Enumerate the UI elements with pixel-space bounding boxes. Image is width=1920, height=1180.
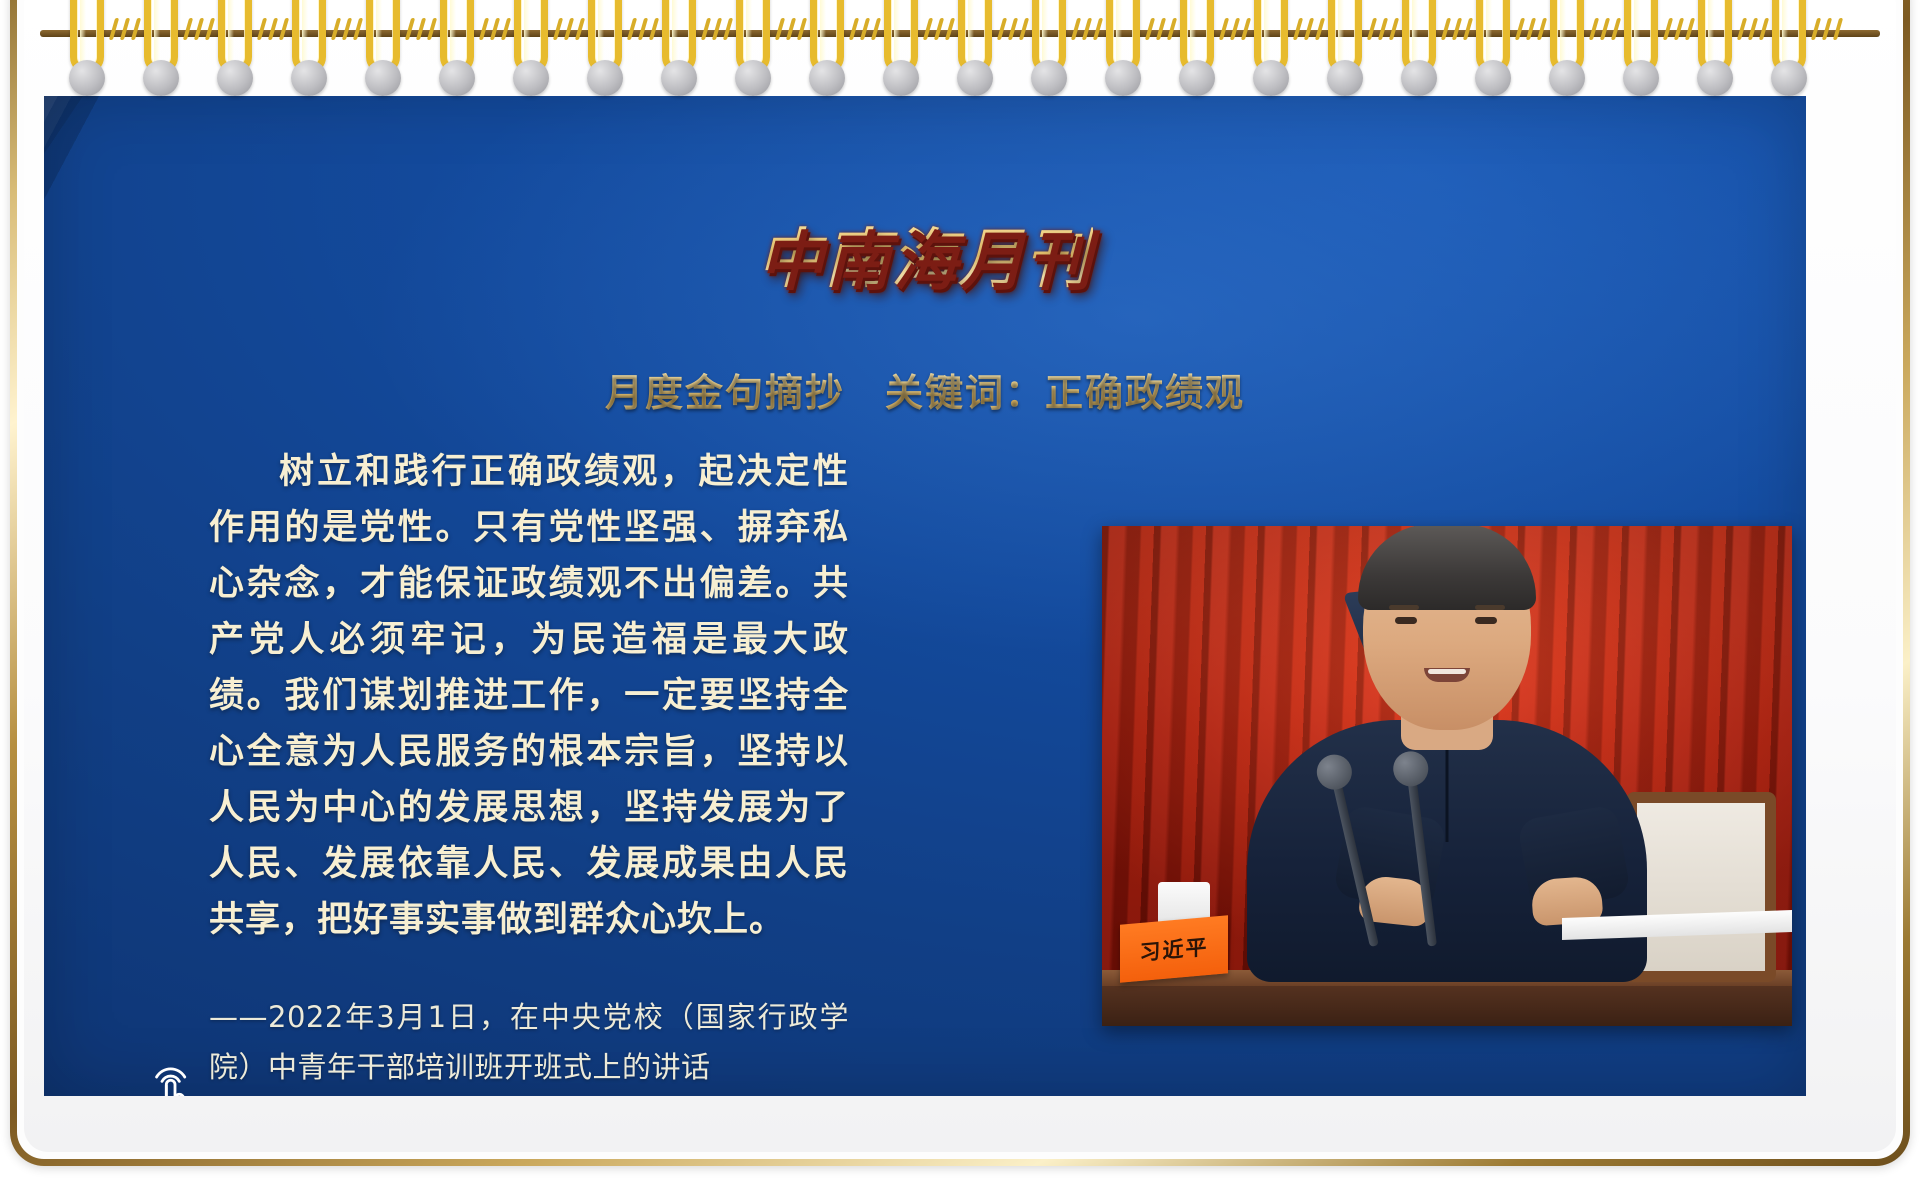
quote-column: 树立和践行正确政绩观，起决定性作用的是党性。只有党性坚强、摒弃私心杂念，才能保证…: [209, 444, 849, 1092]
blue-content-panel: 中南海月刊 月度金句摘抄 关键词：正确政绩观 树立和践行正确政绩观，起决定性作用…: [44, 96, 1806, 1096]
notebook-page: 中南海月刊 月度金句摘抄 关键词：正确政绩观 树立和践行正确政绩观，起决定性作用…: [0, 0, 1920, 1180]
quote-source-attribution: ——2022年3月1日，在中央党校（国家行政学院）中青年干部培训班开班式上的讲话: [209, 992, 849, 1092]
masthead: 中南海月刊: [44, 208, 1806, 300]
name-card: 习近平: [1120, 915, 1228, 982]
name-card-label: 习近平: [1140, 931, 1209, 967]
eyebrow-left: [1389, 605, 1419, 610]
tap-hand-icon[interactable]: [140, 1064, 210, 1096]
mouth: [1424, 668, 1470, 682]
eye-left: [1395, 617, 1417, 624]
quote-body-text: 树立和践行正确政绩观，起决定性作用的是党性。只有党性坚强、摒弃私心杂念，才能保证…: [209, 444, 849, 948]
eyebrow-right: [1475, 605, 1505, 610]
speaker-figure: [1232, 582, 1662, 982]
page-title: 中南海月刊: [758, 208, 1093, 300]
kicker-keywords: 月度金句摘抄 关键词：正确政绩观: [44, 362, 1806, 417]
eye-right: [1475, 617, 1497, 624]
speaker-photo: 习近平: [1102, 526, 1792, 1026]
